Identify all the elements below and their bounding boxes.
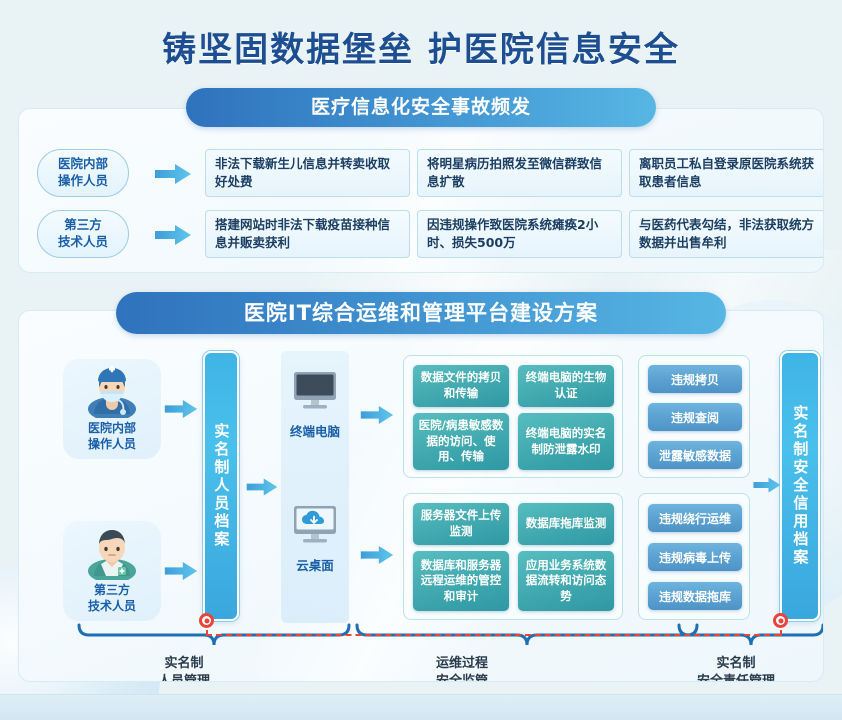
persona-label: 第三方 技术人员 (88, 582, 136, 614)
violation-item: 泄露敏感数据 (648, 441, 742, 469)
incident-case: 与医药代表勾结，非法获取统方数据并出售牟利 (629, 210, 824, 258)
role-line-2: 操作人员 (58, 173, 108, 188)
connector-dot-right (773, 613, 788, 628)
monitor-item: 数据库和服务器远程运维的管控和审计 (413, 551, 509, 611)
cloud-desktop-icon (289, 503, 341, 547)
role-line-1: 医院内部 (58, 156, 108, 171)
violation-item: 违规绕行运维 (648, 504, 742, 532)
monitor-item: 终端电脑的生物认证 (518, 365, 614, 407)
monitor-group-server: 服务器文件上传监测 数据库拖库监测 数据库和服务器远程运维的管控和审计 应用业务… (403, 493, 623, 620)
device-cloud-desktop: 云桌面 (281, 503, 349, 574)
incident-case: 离职员工私自登录原医院系统获取患者信息 (629, 149, 824, 197)
persona-line-2: 技术人员 (88, 599, 136, 613)
realname-security-credit-archive-bar: 实名制安全信用档案 (780, 351, 820, 621)
persona-line-2: 操作人员 (88, 437, 136, 451)
incident-case: 非法下载新生儿信息并转卖收取好处费 (205, 149, 410, 197)
technician-avatar-icon (80, 524, 144, 580)
violation-item: 违规数据拖库 (648, 582, 742, 610)
persona-label: 医院内部 操作人员 (88, 420, 136, 452)
page-title: 铸坚固数据堡垒 护医院信息安全 (0, 22, 842, 71)
caption-line-1: 运维过程 (436, 656, 488, 671)
incidents-panel: 医院内部 操作人员 非法下载新生儿信息并转卖收取好处费 将明星病历拍照发至微信群… (18, 108, 824, 273)
monitor-item: 数据文件的拷贝和传输 (413, 365, 509, 407)
incidents-section-header: 医疗信息化安全事故频发 (186, 88, 656, 127)
violation-item: 违规拷贝 (648, 365, 742, 393)
realname-link-dashed-line (206, 634, 780, 636)
monitor-item: 终端电脑的实名制防泄露水印 (518, 413, 614, 470)
monitor-item: 数据库拖库监测 (518, 503, 614, 545)
incident-case: 将明星病历拍照发至微信群致信息扩散 (417, 149, 622, 197)
desktop-monitor-icon (289, 369, 341, 413)
violation-group-terminal: 违规拷贝 违规查阅 泄露敏感数据 (638, 355, 750, 478)
role-line-2: 技术人员 (58, 234, 108, 249)
monitor-group-terminal: 数据文件的拷贝和传输 终端电脑的生物认证 医院/病患敏感数据的访问、使用、传输 … (403, 355, 623, 478)
realname-personnel-archive-bar: 实名制人员档案 (203, 351, 239, 621)
incident-role-thirdparty: 第三方 技术人员 (37, 210, 129, 258)
persona-internal-staff: 医院内部 操作人员 (63, 359, 161, 459)
doctor-mask-avatar-icon (80, 362, 144, 418)
device-label: 云桌面 (281, 555, 349, 574)
footer-strip (0, 694, 842, 720)
device-column: 终端电脑 云桌面 (281, 351, 349, 623)
incident-case: 搭建网站时非法下载疫苗接种信息并贩卖获利 (205, 210, 410, 258)
caption-ops-security: 运维过程 安全监管 (367, 655, 557, 682)
violation-group-server: 违规绕行运维 违规病毒上传 违规数据拖库 (638, 493, 750, 620)
persona-line-1: 医院内部 (88, 421, 136, 435)
connector-dot-left (199, 613, 214, 628)
incident-role-internal: 医院内部 操作人员 (37, 149, 129, 197)
caption-line-1: 实名制 (164, 656, 203, 671)
incident-row: 医院内部 操作人员 非法下载新生儿信息并转卖收取好处费 将明星病历拍照发至微信群… (19, 149, 824, 199)
platform-panel: 医院内部 操作人员 第三方 技术人员 实名制人员档案 (18, 310, 824, 682)
monitor-item: 应用业务系统数据流转和访问态势 (518, 551, 614, 611)
caption-line-2: 安全监管 (436, 674, 488, 682)
incident-row: 第三方 技术人员 搭建网站时非法下载疫苗接种信息并贩卖获利 因违规操作致医院系统… (19, 210, 824, 260)
persona-third-party-tech: 第三方 技术人员 (63, 521, 161, 621)
caption-line-2: 安全责任管理 (697, 674, 775, 682)
violation-item: 违规病毒上传 (648, 543, 742, 571)
monitor-item: 服务器文件上传监测 (413, 503, 509, 545)
caption-line-2: 人员管理 (158, 674, 210, 682)
monitor-item: 医院/病患敏感数据的访问、使用、传输 (413, 413, 509, 470)
platform-section-header: 医院IT综合运维和管理平台建设方案 (116, 292, 726, 334)
persona-line-1: 第三方 (94, 583, 130, 597)
device-terminal-pc: 终端电脑 (281, 369, 349, 440)
role-line-1: 第三方 (64, 217, 102, 232)
caption-realname-responsibility: 实名制 安全责任管理 (656, 655, 816, 682)
caption-line-1: 实名制 (716, 656, 755, 671)
device-label: 终端电脑 (281, 421, 349, 440)
caption-realname-personnel: 实名制 人员管理 (89, 655, 279, 682)
incident-case: 因违规操作致医院系统瘫痪2小时、损失500万 (417, 210, 622, 258)
violation-item: 违规查阅 (648, 403, 742, 431)
